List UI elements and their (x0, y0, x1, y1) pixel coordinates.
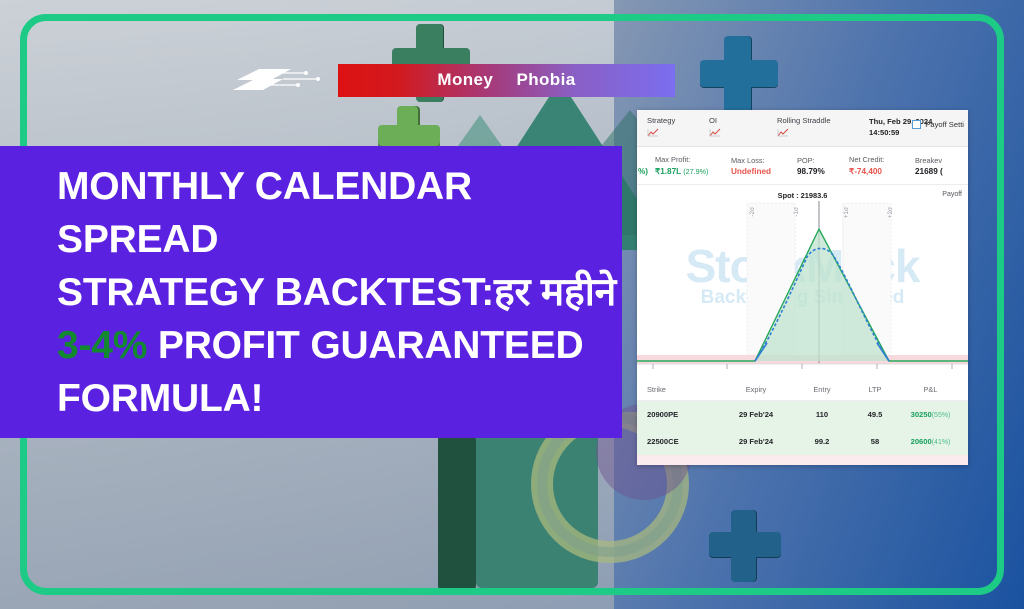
payoff-settings-label: Payoff Setti (925, 120, 964, 129)
stat-max-profit-pct: (27.9%) (683, 167, 708, 176)
stat-clipped: %) (637, 155, 655, 176)
brand-name-part1: Money (437, 70, 493, 89)
table-row[interactable]: 20900PE 29 Feb'24 110 49.5 30250(55%) (637, 401, 968, 428)
tab-strategy-label: Strategy (647, 116, 709, 125)
cell-expiry: 29 Feb'24 (719, 410, 793, 419)
column-ltp: LTP (851, 385, 899, 394)
sigma-label-minus-2: -2σ (749, 207, 756, 217)
title-highlight: 3-4% (57, 324, 147, 367)
stacked-layers-logo-icon (225, 60, 320, 100)
line-chart-icon (647, 128, 659, 137)
stat-net-credit-value: ₹-74,400 (849, 166, 915, 176)
table-row[interactable]: 22500CE 29 Feb'24 99.2 58 20600(41%) (637, 428, 968, 455)
line-chart-icon (709, 128, 721, 137)
stats-row: %) Max Profit: ₹1.87L (27.9%) Max Loss: … (637, 147, 968, 185)
stat-max-loss: Max Loss: Undefined (731, 156, 797, 176)
tab-rolling-straddle-label: Rolling Straddle (777, 116, 863, 125)
payoff-chart: StockMock Backtesting Simplified (637, 185, 968, 397)
title-line-2: STRATEGY BACKTEST:हर महीने (57, 266, 622, 319)
brand-name-banner: Money Phobia (338, 64, 675, 97)
column-pl: P&L (899, 385, 962, 394)
cell-strike: 20900PE (643, 410, 719, 419)
title-banner: MONTHLY CALENDAR SPREAD STRATEGY BACKTES… (0, 146, 622, 438)
tab-strategy[interactable]: Strategy (647, 116, 709, 137)
stat-max-profit: Max Profit: ₹1.87L (27.9%) (655, 155, 731, 176)
stat-max-loss-value: Undefined (731, 167, 797, 176)
table-header-row: Strike Expiry Entry LTP P&L (637, 379, 968, 401)
table-row[interactable] (637, 455, 968, 465)
cell-ltp: 58 (851, 437, 899, 446)
payoff-legend-label: Payoff (942, 191, 962, 198)
column-entry: Entry (793, 385, 851, 394)
cell-entry: 99.2 (793, 437, 851, 446)
stat-max-loss-label: Max Loss: (731, 156, 797, 165)
stat-pop-label: POP: (797, 156, 849, 165)
stat-breakeven: Breakev 21689 ( (915, 156, 968, 176)
column-expiry: Expiry (719, 385, 793, 394)
stat-net-credit-label: Net Credit: (849, 155, 915, 164)
tab-rolling-straddle[interactable]: Rolling Straddle (777, 116, 863, 137)
sigma-label-plus-2: +2σ (887, 207, 894, 218)
title-line-3: 3-4% PROFIT GUARANTEED (57, 319, 622, 372)
sigma-label-plus-1: +1σ (843, 207, 850, 218)
positions-table: Strike Expiry Entry LTP P&L 20900PE 29 F… (637, 379, 968, 465)
tab-oi-label: OI (709, 116, 777, 125)
sigma-label-minus-1: -1σ (793, 207, 800, 217)
cell-entry: 110 (793, 410, 851, 419)
tab-oi[interactable]: OI (709, 116, 777, 137)
stat-clipped-value: %) (638, 167, 655, 176)
stat-breakeven-value: 21689 ( (915, 167, 968, 176)
title-line-1: MONTHLY CALENDAR SPREAD (57, 160, 622, 266)
column-strike: Strike (643, 385, 719, 394)
stat-max-profit-label: Max Profit: (655, 155, 731, 164)
stat-max-profit-value: ₹1.87L (27.9%) (655, 166, 731, 176)
stockmock-payoff-panel: Strategy OI Rolling Straddle Thu, Feb 29… (637, 110, 968, 465)
payoff-settings-toggle[interactable]: Payoff Setti (912, 120, 964, 129)
cell-strike: 22500CE (643, 437, 719, 446)
stat-breakeven-label: Breakev (915, 156, 968, 165)
brand-header: Money Phobia (225, 60, 675, 100)
line-chart-icon (777, 128, 789, 137)
payoff-settings-checkbox[interactable] (912, 120, 921, 129)
brand-name-part2: Phobia (517, 70, 576, 89)
stat-net-credit: Net Credit: ₹-74,400 (849, 155, 915, 176)
spot-price-label: Spot : 21983.6 (778, 191, 828, 200)
title-line-3-rest: PROFIT GUARANTEED (147, 324, 583, 367)
stat-pop-value: 98.79% (797, 167, 849, 176)
cell-pl: 30250(55%) (899, 410, 962, 419)
slab-decor (438, 434, 476, 592)
title-line-4: FORMULA! (57, 372, 622, 425)
payoff-chart-svg (637, 185, 968, 397)
cell-expiry: 29 Feb'24 (719, 437, 793, 446)
page-title: MONTHLY CALENDAR SPREAD STRATEGY BACKTES… (57, 160, 622, 425)
panel-toolbar: Strategy OI Rolling Straddle Thu, Feb 29… (637, 110, 968, 147)
plus-shape-icon (700, 36, 778, 114)
stat-pop: POP: 98.79% (797, 156, 849, 176)
cell-pl: 20600(41%) (899, 437, 962, 446)
cell-ltp: 49.5 (851, 410, 899, 419)
